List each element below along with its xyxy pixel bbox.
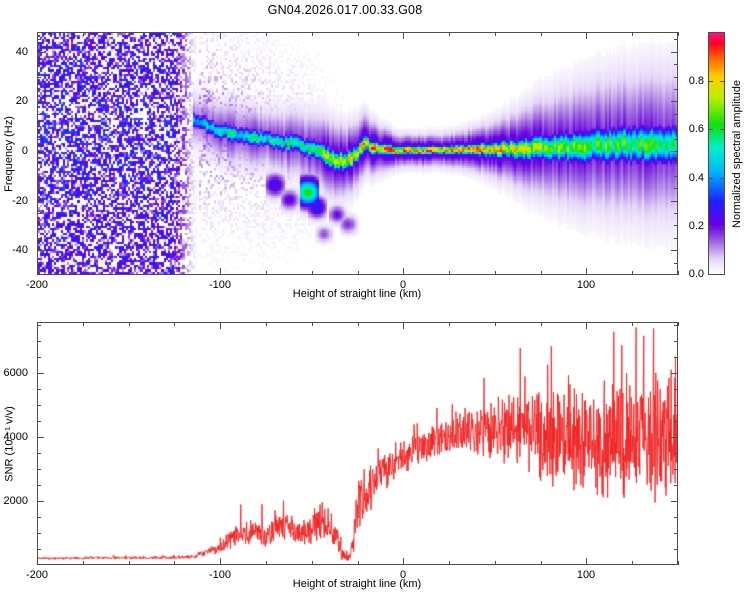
- y-tick-major: [37, 101, 44, 102]
- y-tick-minor-right: [674, 405, 678, 406]
- x-tick-minor-top: [449, 322, 450, 326]
- y-tick-minor: [37, 341, 41, 342]
- x-tick-major-top: [586, 322, 587, 329]
- y-tick-minor-right: [674, 325, 678, 326]
- x-tick-minor: [266, 561, 267, 565]
- x-tick-label: -200: [26, 569, 48, 581]
- y-tick-label: 20: [0, 95, 28, 107]
- snr-y-axis-title: SNR (10 ⁻¹ v/v): [3, 406, 16, 481]
- x-tick-minor-top: [358, 322, 359, 326]
- figure-title: GN04.2026.017.00.33.G08: [0, 3, 690, 17]
- colorbar-tick: [720, 129, 725, 130]
- x-tick-label: -100: [209, 279, 231, 291]
- y-tick-minor-right: [674, 139, 678, 140]
- x-tick-minor-top: [83, 322, 84, 326]
- y-tick-label: 40: [0, 46, 28, 58]
- x-tick-minor-top: [358, 32, 359, 36]
- y-tick-minor-right: [674, 263, 678, 264]
- x-tick-major: [37, 268, 38, 275]
- y-tick-minor: [37, 176, 41, 177]
- y-tick-minor-right: [674, 389, 678, 390]
- y-tick-minor: [37, 325, 41, 326]
- x-tick-major-top: [37, 32, 38, 39]
- colorbar-tick-label: 0.6: [668, 123, 704, 135]
- y-tick-minor: [37, 549, 41, 550]
- y-tick-minor: [37, 39, 41, 40]
- x-tick-minor: [83, 561, 84, 565]
- x-tick-minor-top: [678, 322, 679, 326]
- y-tick-minor: [37, 357, 41, 358]
- x-tick-minor: [495, 561, 496, 565]
- y-tick-minor: [37, 225, 41, 226]
- x-tick-minor-top: [174, 32, 175, 36]
- y-tick-minor: [37, 77, 41, 78]
- x-tick-minor-top: [83, 32, 84, 36]
- y-tick-minor-right: [674, 39, 678, 40]
- y-tick-minor: [37, 213, 41, 214]
- x-tick-major-top: [220, 322, 221, 329]
- y-tick-major-right: [671, 52, 678, 53]
- y-tick-minor: [37, 238, 41, 239]
- x-tick-label: -200: [26, 279, 48, 291]
- x-tick-label: 100: [577, 279, 595, 291]
- snr-panel: [37, 322, 678, 565]
- y-tick-minor: [37, 263, 41, 264]
- y-tick-minor: [37, 188, 41, 189]
- x-tick-minor-top: [632, 322, 633, 326]
- colorbar-title: Normalized spectral amplitude: [731, 80, 743, 228]
- y-tick-minor-right: [674, 238, 678, 239]
- y-tick-minor-right: [674, 163, 678, 164]
- x-tick-major: [220, 558, 221, 565]
- y-tick-label: -40: [0, 244, 28, 256]
- y-tick-minor-right: [674, 453, 678, 454]
- x-tick-minor: [541, 561, 542, 565]
- y-tick-minor-right: [674, 533, 678, 534]
- x-tick-minor: [174, 561, 175, 565]
- spectrogram-panel: [37, 32, 678, 275]
- y-tick-major: [37, 52, 44, 53]
- x-tick-major: [403, 268, 404, 275]
- y-tick-label: 6000: [0, 367, 28, 379]
- y-tick-minor-right: [674, 188, 678, 189]
- x-tick-minor-top: [266, 32, 267, 36]
- x-tick-minor-top: [312, 32, 313, 36]
- x-tick-minor: [632, 271, 633, 275]
- x-tick-minor: [83, 271, 84, 275]
- y-tick-major: [37, 373, 44, 374]
- y-tick-major: [37, 501, 44, 502]
- x-tick-minor: [495, 271, 496, 275]
- y-tick-minor-right: [674, 485, 678, 486]
- colorbar-tick: [708, 178, 713, 179]
- y-tick-major-right: [671, 151, 678, 152]
- x-tick-minor-top: [449, 32, 450, 36]
- x-tick-minor: [129, 271, 130, 275]
- x-tick-minor: [174, 271, 175, 275]
- colorbar-tick: [720, 226, 725, 227]
- x-tick-minor-top: [495, 32, 496, 36]
- y-tick-minor-right: [674, 549, 678, 550]
- colorbar-tick: [720, 178, 725, 179]
- colorbar-tick: [708, 129, 713, 130]
- y-tick-minor: [37, 64, 41, 65]
- colorbar-tick-label: 0.0: [668, 268, 704, 280]
- x-tick-major: [220, 268, 221, 275]
- y-tick-minor-right: [674, 341, 678, 342]
- y-tick-minor-right: [674, 469, 678, 470]
- y-tick-minor: [37, 469, 41, 470]
- colorbar-tick: [708, 81, 713, 82]
- y-tick-minor: [37, 421, 41, 422]
- y-tick-minor-right: [674, 114, 678, 115]
- y-tick-major-right: [671, 373, 678, 374]
- y-tick-minor: [37, 517, 41, 518]
- x-tick-minor: [358, 271, 359, 275]
- x-tick-minor: [129, 561, 130, 565]
- y-tick-major: [37, 250, 44, 251]
- y-tick-minor-right: [674, 89, 678, 90]
- x-tick-minor: [449, 561, 450, 565]
- x-tick-major-top: [220, 32, 221, 39]
- y-tick-minor: [37, 114, 41, 115]
- x-tick-minor: [541, 271, 542, 275]
- spectrogram-x-axis-title: Height of straight line (km): [293, 288, 421, 300]
- x-tick-minor: [358, 561, 359, 565]
- snr-x-axis-title: Height of straight line (km): [293, 578, 421, 590]
- x-tick-minor: [632, 561, 633, 565]
- y-tick-major: [37, 151, 44, 152]
- x-tick-minor: [266, 271, 267, 275]
- x-tick-minor-top: [129, 322, 130, 326]
- x-tick-label: 100: [577, 569, 595, 581]
- y-tick-major-right: [671, 501, 678, 502]
- x-tick-major-top: [403, 32, 404, 39]
- y-tick-minor: [37, 163, 41, 164]
- spectrogram-image: [38, 33, 677, 274]
- x-tick-major-top: [403, 322, 404, 329]
- x-tick-minor-top: [632, 32, 633, 36]
- y-tick-minor: [37, 139, 41, 140]
- x-tick-minor: [449, 271, 450, 275]
- x-tick-minor-top: [129, 32, 130, 36]
- y-tick-minor-right: [674, 213, 678, 214]
- y-tick-minor-right: [674, 64, 678, 65]
- colorbar-tick-label: 0.2: [668, 220, 704, 232]
- x-tick-minor: [312, 561, 313, 565]
- snr-plot-line: [38, 323, 677, 564]
- colorbar-tick: [708, 274, 713, 275]
- y-tick-major: [37, 201, 44, 202]
- y-tick-minor: [37, 485, 41, 486]
- x-tick-minor-top: [312, 322, 313, 326]
- x-tick-major: [403, 558, 404, 565]
- y-tick-minor: [37, 405, 41, 406]
- y-tick-minor: [37, 389, 41, 390]
- colorbar-tick: [720, 81, 725, 82]
- y-tick-minor: [37, 89, 41, 90]
- figure-canvas: GN04.2026.017.00.33.G08 -200-1000100-40-…: [0, 0, 750, 600]
- y-tick-label: 2000: [0, 495, 28, 507]
- x-tick-minor-top: [495, 322, 496, 326]
- x-tick-major: [37, 558, 38, 565]
- x-tick-label: -100: [209, 569, 231, 581]
- y-tick-minor-right: [674, 421, 678, 422]
- y-tick-minor-right: [674, 517, 678, 518]
- x-tick-minor-top: [541, 32, 542, 36]
- x-tick-major-top: [586, 32, 587, 39]
- x-tick-minor: [312, 271, 313, 275]
- y-tick-label: -20: [0, 195, 28, 207]
- y-tick-major-right: [671, 101, 678, 102]
- y-tick-minor-right: [674, 357, 678, 358]
- y-tick-major-right: [671, 437, 678, 438]
- x-tick-major: [586, 268, 587, 275]
- colorbar-tick: [720, 274, 725, 275]
- colorbar-tick: [708, 226, 713, 227]
- colorbar-tick-label: 0.4: [668, 172, 704, 184]
- x-tick-minor: [678, 561, 679, 565]
- x-tick-minor-top: [266, 322, 267, 326]
- x-tick-major: [586, 558, 587, 565]
- y-tick-minor: [37, 453, 41, 454]
- x-tick-minor-top: [174, 322, 175, 326]
- y-tick-major-right: [671, 201, 678, 202]
- spectrogram-y-axis-title: Frequency (Hz): [3, 116, 15, 192]
- y-tick-major-right: [671, 250, 678, 251]
- y-tick-minor: [37, 533, 41, 534]
- y-tick-minor: [37, 126, 41, 127]
- y-tick-major: [37, 437, 44, 438]
- colorbar-tick-label: 0.8: [668, 75, 704, 87]
- colorbar-axes: 0.00.20.40.60.8: [708, 32, 725, 275]
- x-tick-minor-top: [541, 322, 542, 326]
- x-tick-minor-top: [678, 32, 679, 36]
